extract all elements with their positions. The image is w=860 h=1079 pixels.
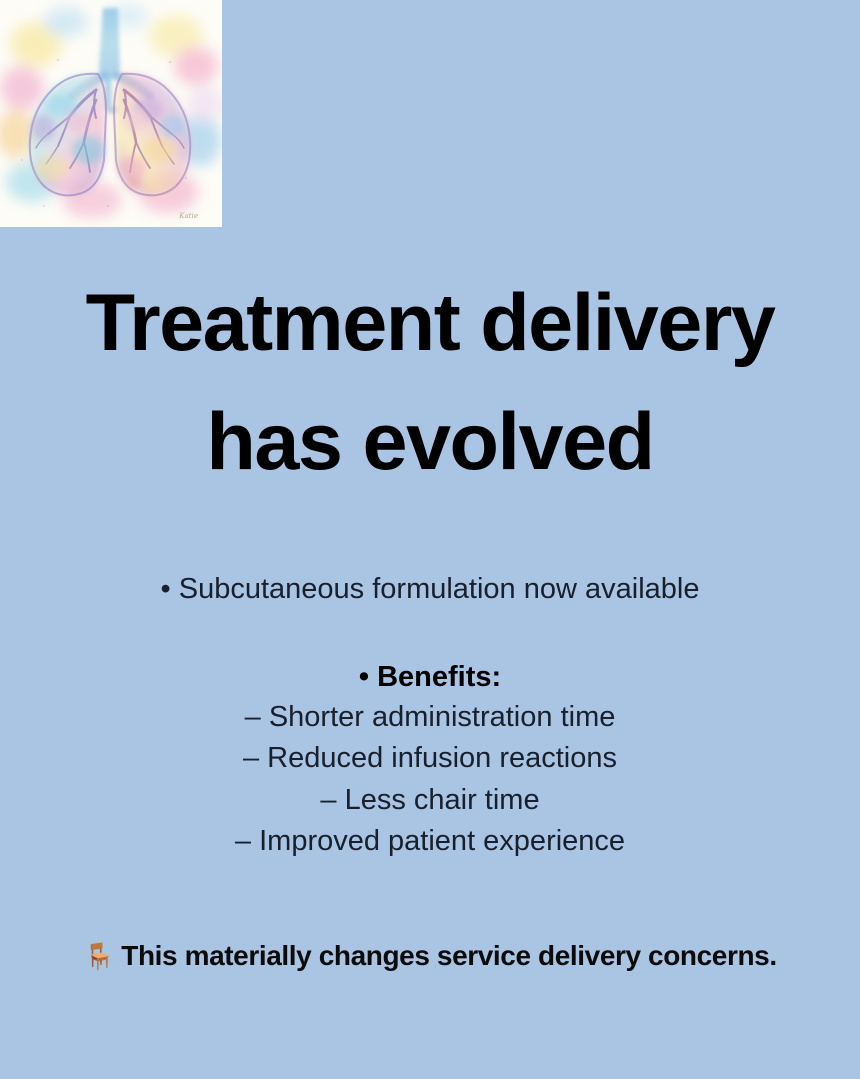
title-line-2: has evolved — [0, 383, 860, 502]
lead-bullet: • Subcutaneous formulation now available — [0, 570, 860, 609]
lungs-artwork: Katie — [0, 0, 222, 227]
body-content: • Subcutaneous formulation now available… — [0, 570, 860, 862]
chair-emoji: 🪑 — [83, 942, 115, 972]
title-line-1: Treatment delivery — [86, 278, 775, 368]
footer-statement: 🪑This materially changes service deliver… — [0, 940, 860, 972]
footer-statement-text: This materially changes service delivery… — [121, 940, 776, 971]
benefit-item: – Improved patient experience — [0, 821, 860, 862]
benefit-item: – Shorter administration time — [0, 697, 860, 738]
svg-text:Katie: Katie — [178, 212, 198, 220]
benefit-item: – Less chair time — [0, 780, 860, 821]
benefits-heading: • Benefits: — [0, 658, 860, 697]
watercolor-lungs-illustration: Katie — [0, 0, 222, 227]
benefit-item: – Reduced infusion reactions — [0, 738, 860, 779]
page-title: Treatment delivery has evolved — [0, 264, 860, 502]
